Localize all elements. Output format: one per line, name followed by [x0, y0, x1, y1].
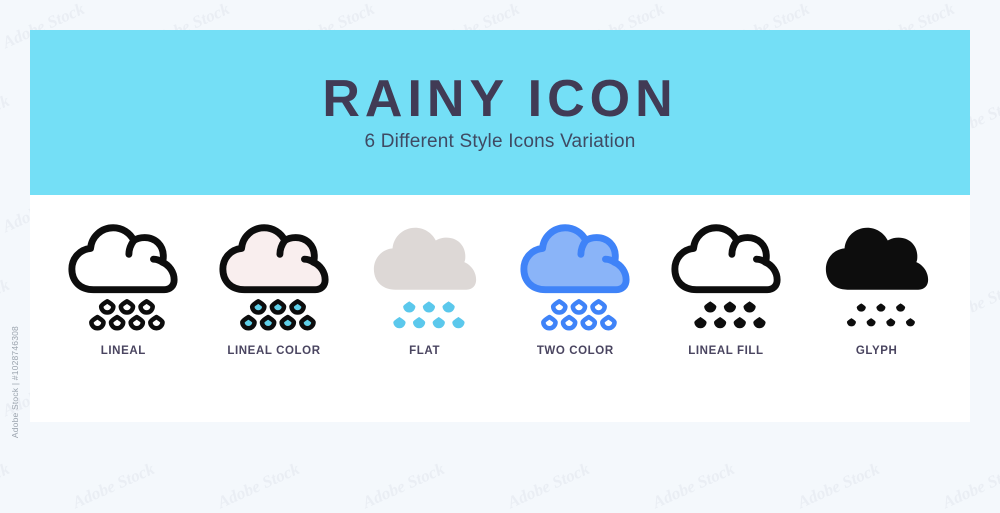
watermark-tile: Adobe Stock: [650, 459, 738, 513]
cloud-shape: [825, 228, 927, 290]
rain-drop: [442, 301, 454, 312]
rain-drop: [242, 317, 254, 328]
rain-drop: [121, 301, 133, 312]
rain-drop: [262, 317, 274, 328]
watermark-tile: Adobe Stock: [0, 459, 13, 513]
rain-drop: [131, 317, 143, 328]
rainy-cloud-lineal-fill-icon: [667, 213, 785, 331]
rain-drop: [724, 301, 736, 312]
rain-drop: [544, 317, 556, 328]
rain-drop: [151, 317, 163, 328]
icon-variation-label: TWO COLOR: [537, 345, 614, 357]
rain-drop: [593, 301, 605, 312]
rain-drop: [413, 317, 425, 328]
rain-drop: [563, 317, 575, 328]
rain-drop: [432, 317, 444, 328]
icon-variation-cell[interactable]: LINEAL COLOR: [204, 213, 344, 357]
rain-drop: [252, 301, 264, 312]
rain-drop: [291, 301, 303, 312]
stock-credit-watermark: Adobe Stock | #1028746308: [0, 0, 30, 450]
rain-drop: [856, 303, 865, 311]
rain-drop: [92, 317, 104, 328]
rain-drop: [694, 317, 706, 328]
rain-drop: [393, 317, 405, 328]
rain-drop: [743, 301, 755, 312]
page-subtitle: 6 Different Style Icons Variation: [365, 131, 636, 153]
rainy-cloud-flat-icon: [366, 213, 484, 331]
header-banner: RAINY ICON 6 Different Style Icons Varia…: [30, 30, 970, 195]
rain-drop: [734, 317, 746, 328]
rain-drop: [272, 301, 284, 312]
watermark-tile: Adobe Stock: [215, 459, 303, 513]
rain-drop: [422, 301, 434, 312]
icon-set-card: RAINY ICON 6 Different Style Icons Varia…: [30, 30, 970, 422]
cloud-seam-2: [154, 259, 163, 262]
rain-drop: [573, 301, 585, 312]
icon-variation-label: LINEAL COLOR: [227, 345, 320, 357]
icon-variations-row: LINEALLINEAL COLORFLATTWO COLORLINEAL FI…: [30, 195, 970, 422]
icon-variation-cell[interactable]: TWO COLOR: [505, 213, 645, 357]
rain-drop: [866, 318, 875, 326]
rain-drop: [301, 317, 313, 328]
rain-drop: [111, 317, 123, 328]
rainy-cloud-two-color-icon: [516, 213, 634, 331]
rain-drop: [704, 301, 716, 312]
rainy-cloud-lineal-icon: [64, 213, 182, 331]
rain-drop: [906, 318, 915, 326]
rain-drop: [583, 317, 595, 328]
rain-drop: [876, 303, 885, 311]
rain-drop: [141, 301, 153, 312]
icon-variation-label: FLAT: [409, 345, 440, 357]
rain-drop: [282, 317, 294, 328]
rain-drop: [886, 318, 895, 326]
rain-drop: [896, 303, 905, 311]
stock-credit-text: Adobe Stock | #1028746308: [10, 326, 20, 438]
icon-variation-label: LINEAL: [101, 345, 146, 357]
rainy-cloud-glyph-icon: [818, 213, 936, 331]
cloud-shape: [374, 228, 476, 290]
watermark-tile: Adobe Stock: [940, 459, 1000, 513]
icon-variation-cell[interactable]: LINEAL: [53, 213, 193, 357]
icon-variation-cell[interactable]: LINEAL FILL: [656, 213, 796, 357]
icon-variation-label: GLYPH: [856, 345, 898, 357]
cloud-seam-2: [756, 259, 765, 262]
icon-variation-label: LINEAL FILL: [688, 345, 763, 357]
rain-drop: [847, 318, 856, 326]
page-title: RAINY ICON: [322, 73, 677, 125]
rain-drop: [553, 301, 565, 312]
watermark-tile: Adobe Stock: [0, 275, 13, 329]
rainy-cloud-lineal-color-icon: [215, 213, 333, 331]
watermark-tile: Adobe Stock: [505, 459, 593, 513]
rain-drop: [403, 301, 415, 312]
rain-drop: [714, 317, 726, 328]
rain-drop: [753, 317, 765, 328]
cloud-seam-2: [606, 259, 615, 262]
icon-variation-cell[interactable]: GLYPH: [807, 213, 947, 357]
rain-drop: [452, 317, 464, 328]
watermark-tile: Adobe Stock: [70, 459, 158, 513]
icon-variation-cell[interactable]: FLAT: [355, 213, 495, 357]
cloud-seam-2: [304, 259, 313, 262]
watermark-tile: Adobe Stock: [795, 459, 883, 513]
watermark-tile: Adobe Stock: [360, 459, 448, 513]
watermark-tile: Adobe Stock: [0, 91, 13, 145]
rain-drop: [603, 317, 615, 328]
rain-drop: [101, 301, 113, 312]
